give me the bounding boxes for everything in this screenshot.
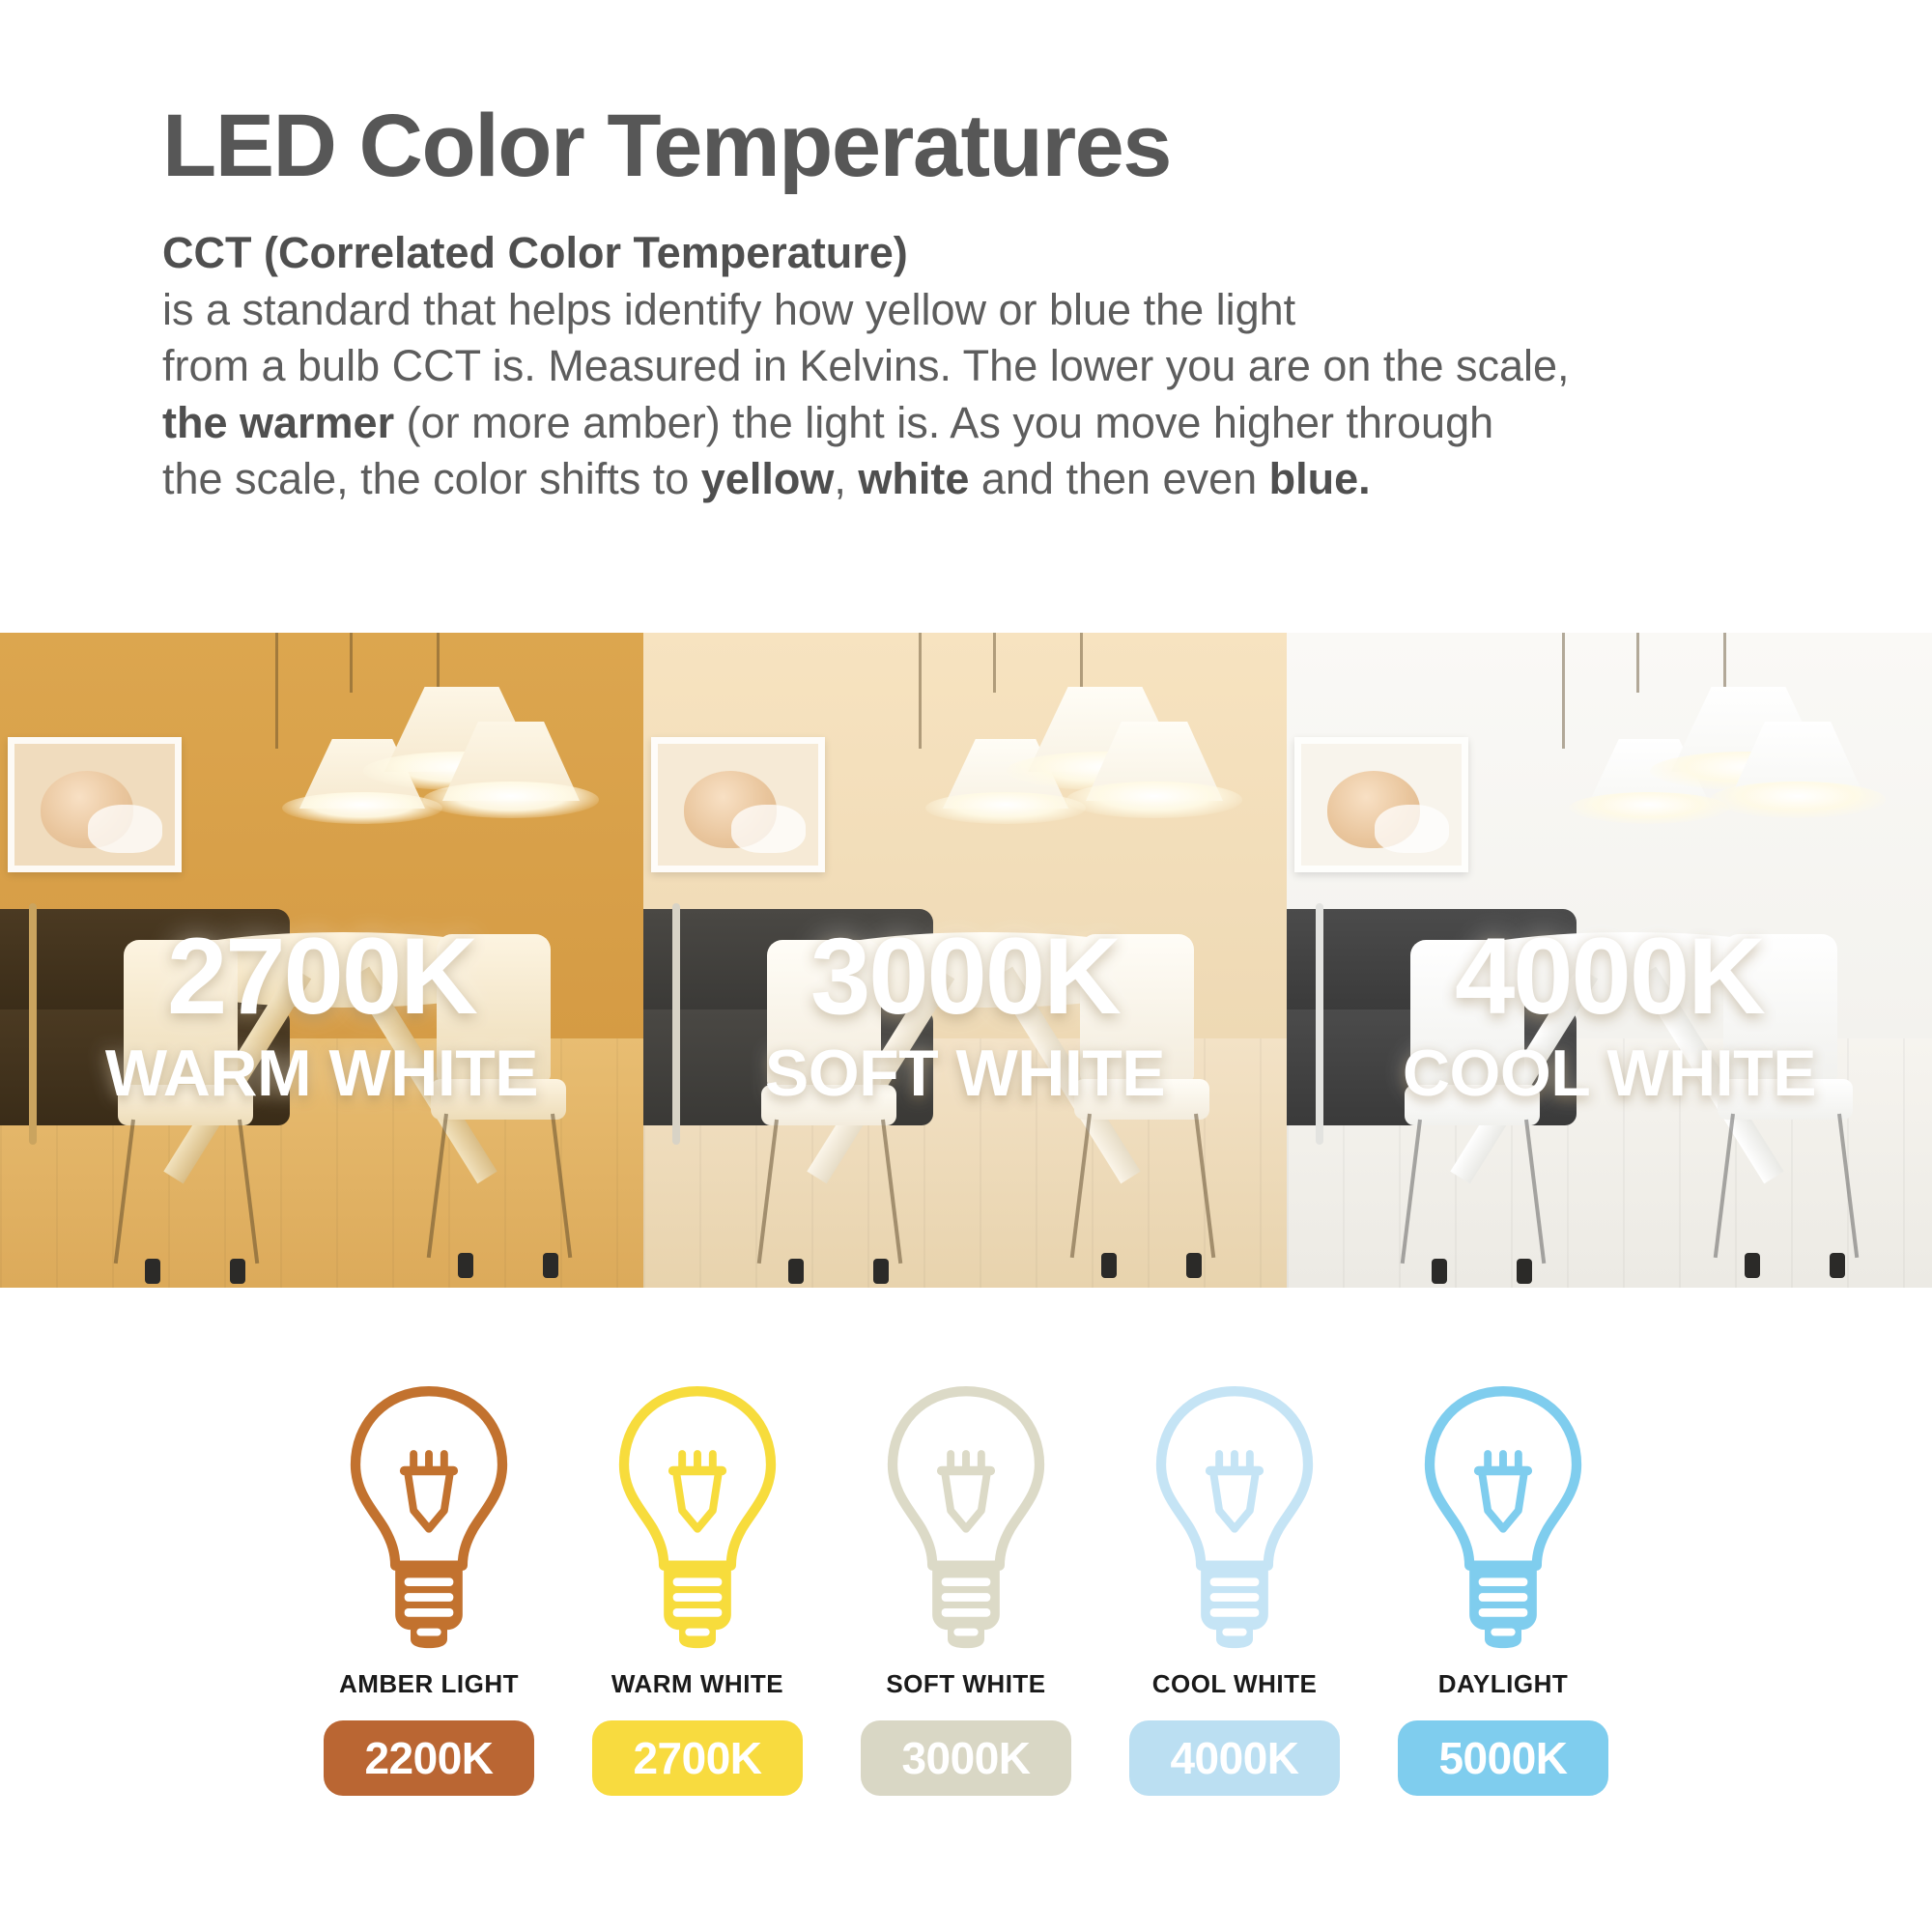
- intro-line: the warmer (or more amber) the light is.…: [162, 395, 1932, 452]
- chair-back: [1080, 934, 1194, 1081]
- header-section: LED Color Temperatures CCT (Correlated C…: [0, 0, 1932, 508]
- dining-chair: [124, 940, 238, 1087]
- chair-foot: [1101, 1253, 1117, 1278]
- light-bulb-icon: [1143, 1381, 1326, 1652]
- pendant-cord: [993, 633, 996, 693]
- chair-foot: [145, 1259, 160, 1284]
- photo-panel-4000k: 4000K COOL WHITE: [1287, 633, 1932, 1288]
- chair-back: [1723, 934, 1837, 1081]
- light-bulb-icon: [1411, 1381, 1595, 1652]
- wall-picture-frame: [651, 737, 825, 872]
- pendant-lamp: [1729, 722, 1866, 801]
- chair-back: [124, 940, 238, 1087]
- color-temperature-scale: AMBER LIGHT2200KWARM WHITE2700KSOFT WHIT…: [0, 1381, 1932, 1796]
- bulb-label: DAYLIGHT: [1438, 1669, 1569, 1699]
- chair-foot: [788, 1259, 804, 1284]
- intro-text: (or more amber) the light is. As you mov…: [394, 398, 1493, 447]
- bulb-label: SOFT WHITE: [886, 1669, 1045, 1699]
- chair-foot: [1830, 1253, 1845, 1278]
- bulb-column-5000k[interactable]: DAYLIGHT5000K: [1385, 1381, 1622, 1796]
- bulb-label: WARM WHITE: [611, 1669, 783, 1699]
- lamp-glow: [1066, 781, 1242, 818]
- intro-emphasis: the warmer: [162, 398, 394, 447]
- kelvin-pill[interactable]: 4000K: [1129, 1720, 1340, 1796]
- bulb-label: AMBER LIGHT: [339, 1669, 519, 1699]
- chair-seat: [761, 1085, 896, 1125]
- chair-seat: [1718, 1079, 1853, 1120]
- lamp-glow: [1710, 781, 1886, 818]
- chair-seat: [118, 1085, 253, 1125]
- intro-text: is a standard that helps identify how ye…: [162, 285, 1295, 334]
- bulb-label: COOL WHITE: [1152, 1669, 1318, 1699]
- chair-back: [1410, 940, 1524, 1087]
- intro-emphasis: CCT (Correlated Color Temperature): [162, 228, 908, 277]
- chair-back: [767, 940, 881, 1087]
- pendant-cord: [1562, 633, 1565, 749]
- chair-foot: [1432, 1259, 1447, 1284]
- dining-chair: [1410, 940, 1524, 1087]
- intro-text: from a bulb CCT is. Measured in Kelvins.…: [162, 341, 1570, 390]
- chair-foot: [230, 1259, 245, 1284]
- pendant-cord: [1636, 633, 1639, 693]
- intro-text: ,: [834, 454, 858, 503]
- chair-foot: [873, 1259, 889, 1284]
- intro-line: the scale, the color shifts to yellow, w…: [162, 451, 1932, 508]
- chair-foot: [1517, 1259, 1532, 1284]
- lamp-glow: [423, 781, 599, 818]
- chair-foot: [1186, 1253, 1202, 1278]
- picture-subject-secondary: [731, 805, 805, 853]
- intro-emphasis: white: [858, 454, 969, 503]
- dining-chair: [437, 934, 551, 1081]
- intro-line: CCT (Correlated Color Temperature): [162, 225, 1932, 282]
- intro-emphasis: yellow: [701, 454, 835, 503]
- dining-chair: [1080, 934, 1194, 1081]
- bulb-column-3000k[interactable]: SOFT WHITE3000K: [848, 1381, 1085, 1796]
- chair-foot: [543, 1253, 558, 1278]
- wall-picture-frame: [1294, 737, 1468, 872]
- kelvin-pill[interactable]: 2700K: [592, 1720, 803, 1796]
- intro-line: from a bulb CCT is. Measured in Kelvins.…: [162, 338, 1932, 395]
- wall-picture-frame: [8, 737, 182, 872]
- lamp-glow: [925, 792, 1086, 824]
- intro-text: and then even: [969, 454, 1268, 503]
- chair-seat: [1074, 1079, 1209, 1120]
- chair-seat: [1405, 1085, 1540, 1125]
- page-title: LED Color Temperatures: [162, 101, 1932, 190]
- chair-back: [437, 934, 551, 1081]
- sofa-frame-rail: [672, 903, 680, 1145]
- chair-foot: [458, 1253, 473, 1278]
- bulb-column-2200k[interactable]: AMBER LIGHT2200K: [311, 1381, 548, 1796]
- chair-foot: [1745, 1253, 1760, 1278]
- pendant-cord: [350, 633, 353, 693]
- photo-comparison-strip: 2700K WARM WHITE: [0, 633, 1932, 1288]
- intro-paragraph: CCT (Correlated Color Temperature)is a s…: [162, 225, 1932, 508]
- photo-panel-2700k: 2700K WARM WHITE: [0, 633, 643, 1288]
- kelvin-pill[interactable]: 5000K: [1398, 1720, 1608, 1796]
- picture-subject-secondary: [88, 805, 161, 853]
- light-bulb-icon: [874, 1381, 1058, 1652]
- kelvin-pill[interactable]: 2200K: [324, 1720, 534, 1796]
- sofa-frame-rail: [1316, 903, 1323, 1145]
- bulb-column-2700k[interactable]: WARM WHITE2700K: [580, 1381, 816, 1796]
- intro-line: is a standard that helps identify how ye…: [162, 282, 1932, 339]
- kelvin-pill[interactable]: 3000K: [861, 1720, 1071, 1796]
- light-bulb-icon: [606, 1381, 789, 1652]
- intro-emphasis: blue.: [1269, 454, 1371, 503]
- dining-chair: [767, 940, 881, 1087]
- lamp-glow: [282, 792, 442, 824]
- light-bulb-icon: [337, 1381, 521, 1652]
- photo-panel-3000k: 3000K SOFT WHITE: [643, 633, 1287, 1288]
- lamp-glow: [1569, 792, 1729, 824]
- intro-text: the scale, the color shifts to: [162, 454, 701, 503]
- chair-seat: [431, 1079, 566, 1120]
- pendant-cord: [919, 633, 922, 749]
- pendant-cord: [275, 633, 278, 749]
- sofa-frame-rail: [29, 903, 37, 1145]
- pendant-lamp: [1086, 722, 1223, 801]
- dining-chair: [1723, 934, 1837, 1081]
- picture-subject-secondary: [1375, 805, 1448, 853]
- pendant-lamp: [442, 722, 580, 801]
- bulb-column-4000k[interactable]: COOL WHITE4000K: [1117, 1381, 1353, 1796]
